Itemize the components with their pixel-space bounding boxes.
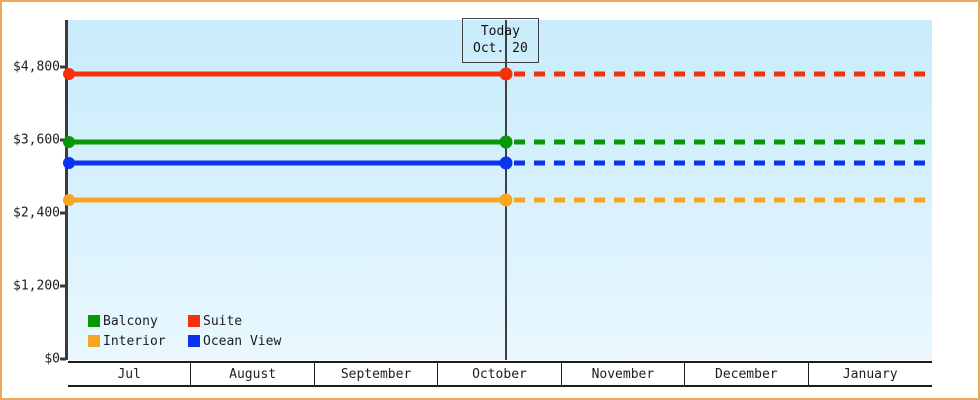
y-axis-tick-label: $0 — [0, 352, 60, 367]
legend-item-balcony[interactable]: Balcony — [88, 314, 188, 329]
series-start-point-balcony[interactable] — [63, 136, 75, 148]
legend-swatch-icon — [88, 335, 100, 347]
today-annotation-box: Today Oct. 20 — [462, 18, 539, 63]
legend-swatch-icon — [188, 315, 200, 327]
series-line-solid-balcony — [68, 140, 506, 145]
series-today-point-suite[interactable] — [500, 68, 513, 81]
series-line-forecast-ocean-view — [514, 160, 932, 165]
month-cell-december[interactable]: December — [685, 363, 808, 385]
series-line-forecast-suite — [514, 72, 932, 77]
series-start-point-ocean-view[interactable] — [63, 157, 75, 169]
series-line-solid-suite — [68, 72, 506, 77]
legend-swatch-icon — [88, 315, 100, 327]
legend-item-interior[interactable]: Interior — [88, 334, 188, 349]
series-line-solid-ocean-view — [68, 160, 506, 165]
legend-item-label: Balcony — [103, 314, 158, 329]
chart-legend: BalconySuiteInteriorOcean View — [88, 311, 281, 351]
series-line-solid-interior — [68, 197, 506, 202]
legend-item-label: Ocean View — [203, 334, 281, 349]
month-cell-september[interactable]: September — [315, 363, 438, 385]
legend-item-suite[interactable]: Suite — [188, 314, 281, 329]
today-annotation-line1: Today — [473, 23, 528, 40]
y-axis-tick-label: $1,200 — [0, 279, 60, 294]
x-axis-month-band: JulAugustSeptemberOctoberNovemberDecembe… — [68, 361, 932, 387]
series-start-point-suite[interactable] — [63, 68, 75, 80]
y-axis-tick-label: $3,600 — [0, 133, 60, 148]
series-line-forecast-balcony — [514, 140, 932, 145]
legend-swatch-icon — [188, 335, 200, 347]
series-today-point-balcony[interactable] — [500, 136, 513, 149]
legend-item-label: Suite — [203, 314, 242, 329]
month-cell-november[interactable]: November — [562, 363, 685, 385]
month-cell-october[interactable]: October — [438, 363, 561, 385]
legend-item-ocean-view[interactable]: Ocean View — [188, 334, 281, 349]
series-today-point-ocean-view[interactable] — [500, 156, 513, 169]
month-cell-august[interactable]: August — [191, 363, 314, 385]
y-axis-tick-label: $4,800 — [0, 60, 60, 75]
y-axis-tick-label: $2,400 — [0, 206, 60, 221]
price-trend-chart: $4,800$3,600$2,400$1,200$0 Today Oct. 20… — [0, 0, 980, 400]
today-annotation-line2: Oct. 20 — [473, 40, 528, 57]
month-cell-january[interactable]: January — [809, 363, 932, 385]
month-cell-jul[interactable]: Jul — [68, 363, 191, 385]
series-today-point-interior[interactable] — [500, 193, 513, 206]
series-start-point-interior[interactable] — [63, 194, 75, 206]
series-line-forecast-interior — [514, 197, 932, 202]
legend-item-label: Interior — [103, 334, 166, 349]
